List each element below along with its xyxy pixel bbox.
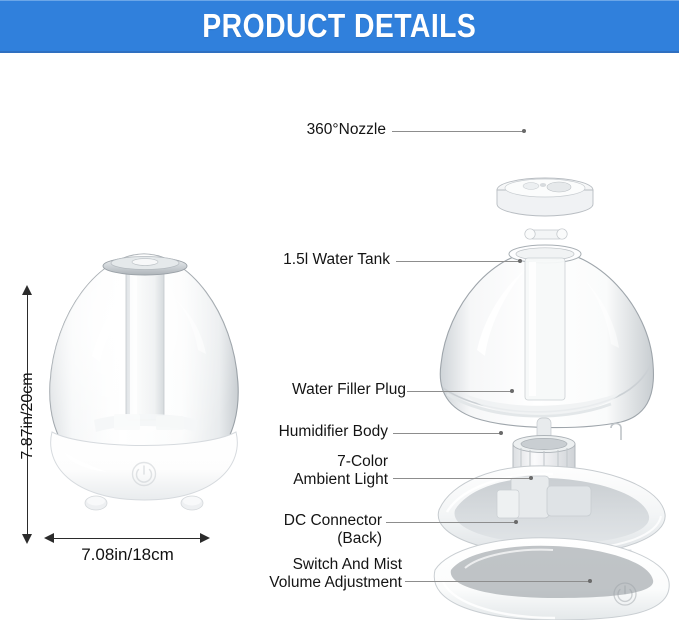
leader-line-switch — [405, 581, 590, 582]
callout-label-nozzle: 360°Nozzle — [180, 121, 386, 139]
part-base-switch — [434, 538, 669, 620]
leader-dot-filler-plug — [510, 389, 514, 393]
leader-line-body — [393, 433, 501, 434]
part-water-tank — [440, 245, 653, 428]
leader-dot-dc-connector — [514, 520, 518, 524]
dimension-arrow-down — [22, 534, 32, 544]
leader-dot-switch — [588, 579, 592, 583]
diagram-stage: 7.87in/20cm 7.08in/18cm — [0, 53, 679, 620]
leader-dot-water-tank — [518, 259, 522, 263]
leader-line-ambient-light — [393, 478, 531, 479]
callout-label-humidifier-body: Humidifier Body — [180, 423, 388, 441]
callout-label-switch: Switch And Mist Volume Adjustment — [160, 556, 402, 593]
dimension-height-label: 7.87in/20cm — [19, 341, 37, 491]
part-nozzle — [497, 178, 593, 216]
header-banner: PRODUCT DETAILS — [0, 0, 679, 53]
part-nozzle-tube — [525, 229, 567, 239]
leader-dot-nozzle — [522, 129, 526, 133]
leader-dot-body — [499, 431, 503, 435]
power-icon — [133, 463, 156, 486]
page-title: PRODUCT DETAILS — [203, 7, 477, 45]
leader-line-dc-connector — [386, 522, 516, 523]
leader-line-nozzle — [392, 131, 524, 132]
leader-dot-ambient-light — [529, 476, 533, 480]
leader-line-water-tank — [396, 261, 520, 262]
leader-line-filler-plug — [407, 391, 512, 392]
exploded-humidifier — [425, 58, 679, 620]
callout-label-ambient-light: 7-Color Ambient Light — [180, 453, 388, 490]
callout-label-filler-plug: Water Filler Plug — [180, 381, 406, 399]
callout-label-water-tank: 1.5l Water Tank — [180, 251, 390, 269]
callout-label-dc-connector: DC Connector (Back) — [180, 512, 382, 549]
